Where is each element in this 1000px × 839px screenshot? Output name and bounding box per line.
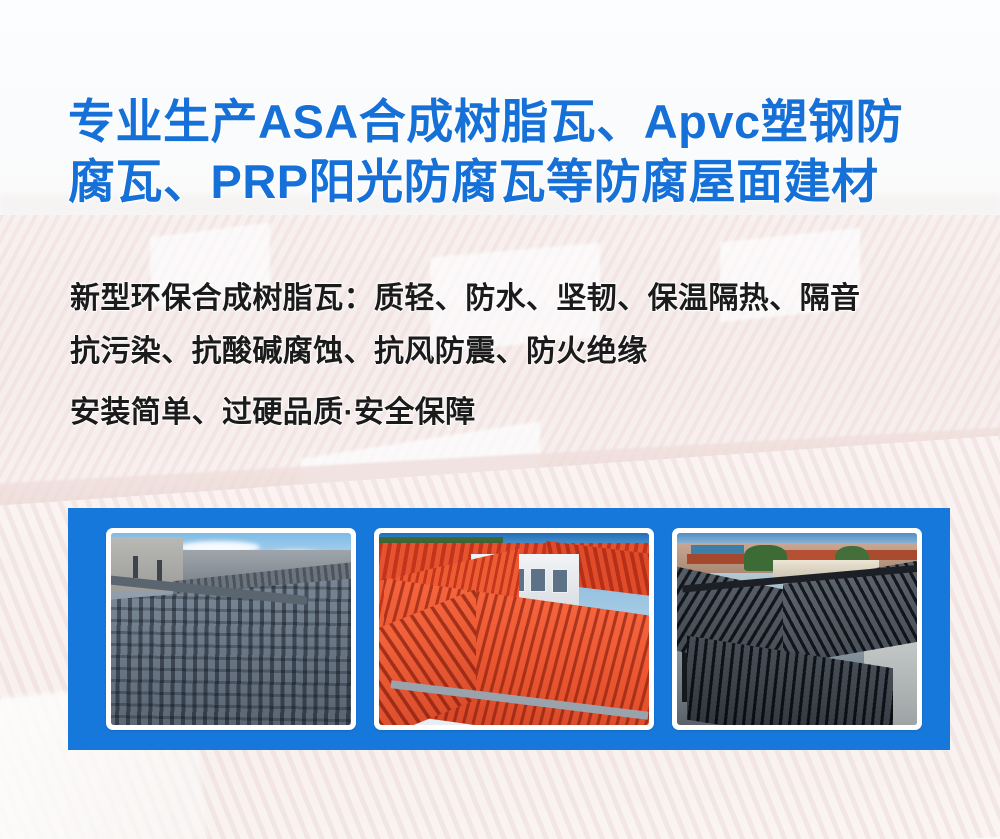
photo1-window xyxy=(133,556,138,578)
black-resin-tile-roof-image xyxy=(677,533,917,725)
feature-line-3: 安装简单、过硬品质·安全保障 xyxy=(70,386,960,439)
product-banner: 专业生产ASA合成树脂瓦、Apvc塑钢防 腐瓦、PRP阳光防腐瓦等防腐屋面建材 … xyxy=(0,0,1000,839)
grey-resin-tile-roof-image xyxy=(111,533,351,725)
photo-gallery xyxy=(68,508,950,750)
photo2-window xyxy=(530,568,546,592)
photo1-window xyxy=(157,560,162,582)
gallery-photo-3[interactable] xyxy=(672,528,922,730)
feature-text-block: 新型环保合成树脂瓦：质轻、防水、坚韧、保温隔热、隔音 抗污染、抗酸碱腐蚀、抗风防… xyxy=(70,272,960,439)
photo3-red-roof xyxy=(687,554,749,564)
page-title: 专业生产ASA合成树脂瓦、Apvc塑钢防 腐瓦、PRP阳光防腐瓦等防腐屋面建材 xyxy=(68,92,948,212)
feature-line-2: 抗污染、抗酸碱腐蚀、抗风防震、防火绝缘 xyxy=(70,325,960,378)
photo3-red-roof xyxy=(864,550,917,560)
gallery-photo-1[interactable] xyxy=(106,528,356,730)
gallery-photo-2[interactable] xyxy=(374,528,654,730)
photo2-window xyxy=(552,569,568,593)
feature-line-1: 新型环保合成树脂瓦：质轻、防水、坚韧、保温隔热、隔音 xyxy=(70,272,960,325)
red-resin-tile-roof-image xyxy=(379,533,649,725)
